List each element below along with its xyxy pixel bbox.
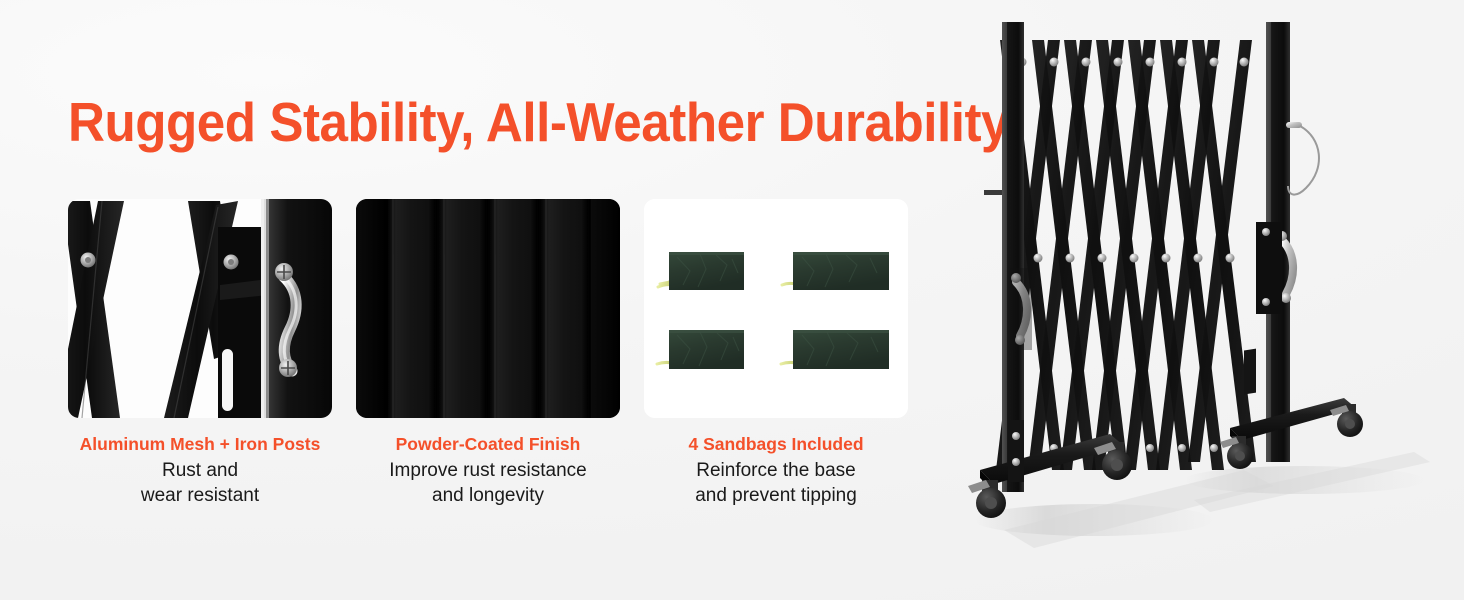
- feature-card-4-sandbags-included: 4 Sandbags Included Reinforce the base a…: [644, 199, 908, 508]
- feature-caption: Aluminum Mesh + Iron Posts Rust and wear…: [68, 418, 332, 508]
- feature-body: Improve rust resistance and longevity: [356, 455, 620, 508]
- feature-body-line-1: Reinforce the base: [644, 458, 908, 483]
- feature-body-line-2: and prevent tipping: [644, 483, 908, 508]
- feature-image-scissor-lattice-hinge-closeup: [68, 199, 332, 418]
- right-upright-post: [1256, 22, 1319, 462]
- feature-body: Reinforce the base and prevent tipping: [644, 455, 908, 508]
- locking-pin-with-lanyard: [1286, 122, 1319, 195]
- caster: [1330, 404, 1363, 437]
- feature-image-four-sandbags-grid: [644, 199, 908, 418]
- feature-card-powder-coated-finish: Powder-Coated Finish Improve rust resist…: [356, 199, 620, 508]
- feature-image-powder-coated-slats-closeup: [356, 199, 620, 418]
- product-feature-banner: Rugged Stability, All-Weather Durability: [0, 0, 1464, 600]
- feature-title: Aluminum Mesh + Iron Posts: [68, 433, 332, 455]
- sandbag: [657, 330, 744, 369]
- hero-product-image-expandable-barrier-gate: [944, 0, 1464, 600]
- feature-card-aluminum-mesh-iron-posts: Aluminum Mesh + Iron Posts Rust and wear…: [68, 199, 332, 508]
- sandbag: [781, 330, 889, 369]
- sandbag: [782, 252, 889, 290]
- page-title: Rugged Stability, All-Weather Durability: [68, 92, 886, 152]
- feature-body-line-1: Rust and: [68, 458, 332, 483]
- feature-title: 4 Sandbags Included: [644, 433, 908, 455]
- feature-body-line-2: and longevity: [356, 483, 620, 508]
- feature-card-list: Aluminum Mesh + Iron Posts Rust and wear…: [68, 199, 908, 508]
- feature-caption: Powder-Coated Finish Improve rust resist…: [356, 418, 620, 508]
- sandbag: [658, 252, 744, 290]
- feature-body-line-2: wear resistant: [68, 483, 332, 508]
- headline-block: Rugged Stability, All-Weather Durability: [68, 92, 948, 152]
- feature-title: Powder-Coated Finish: [356, 433, 620, 455]
- feature-body-line-1: Improve rust resistance: [356, 458, 620, 483]
- lattice-panel: [996, 40, 1256, 470]
- feature-body: Rust and wear resistant: [68, 455, 332, 508]
- caster: [968, 480, 1006, 518]
- feature-caption: 4 Sandbags Included Reinforce the base a…: [644, 418, 908, 508]
